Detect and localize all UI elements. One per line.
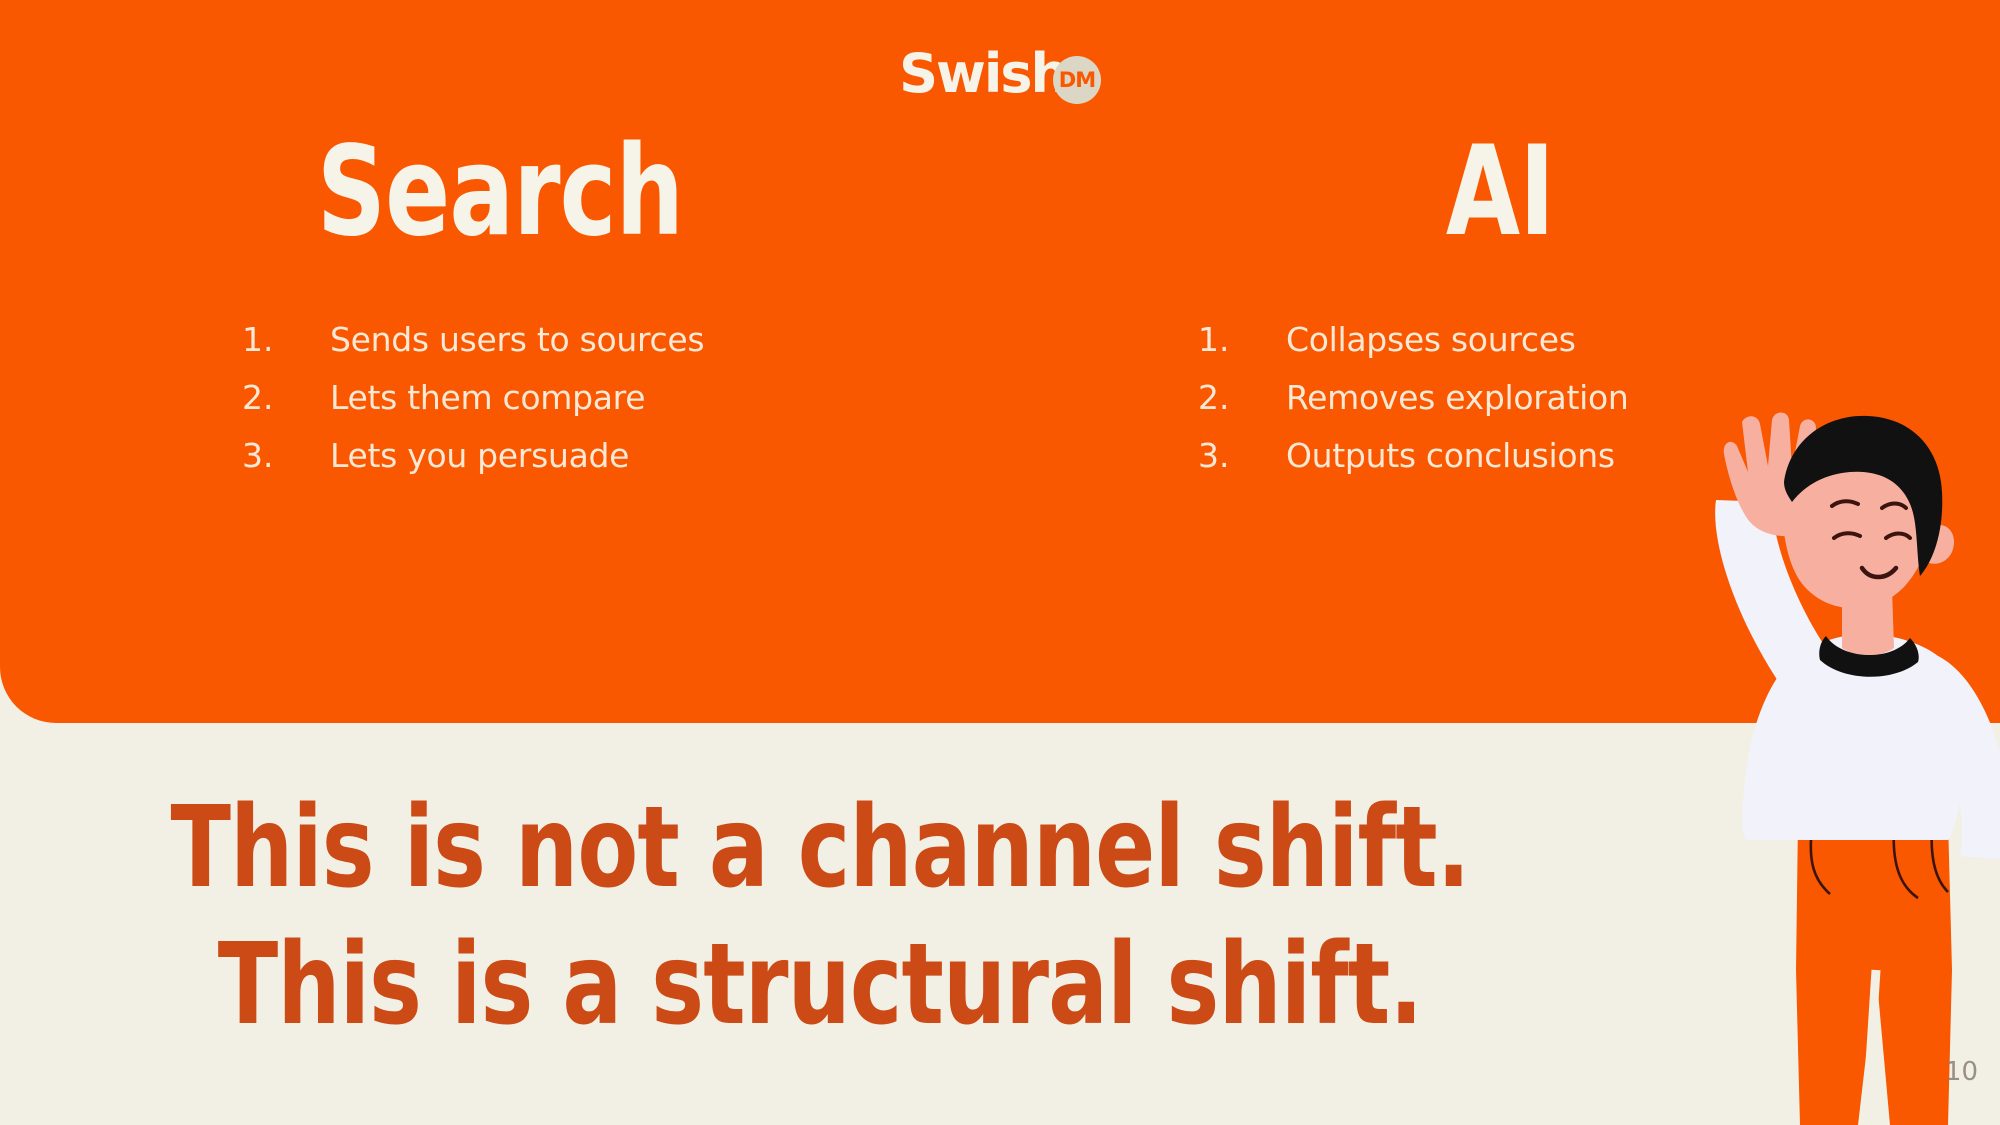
list-item-number: 1. [1198,320,1286,359]
list-item-label: Lets you persuade [330,436,629,475]
list-item-label: Sends users to sources [330,320,704,359]
list-item-label: Removes exploration [1286,378,1628,417]
list-item: 1. Sends users to sources [242,320,1000,378]
waving-person-svg [1680,410,2000,1125]
slide-canvas: SwishDM Search 1. Sends users to sources… [0,0,2000,1125]
waving-person-illustration [1680,410,2000,1125]
pants-group [1796,820,1952,1125]
list-item-number: 1. [242,320,330,359]
list-item-label: Lets them compare [330,378,645,417]
column-search-title: Search [70,130,930,254]
column-search: Search 1. Sends users to sources 2. Lets… [0,130,1000,550]
list-item-number: 3. [242,436,330,475]
list-item-number: 2. [1198,378,1286,417]
list-item-number: 2. [242,378,330,417]
logo-lockup: SwishDM [899,47,1101,101]
logo-badge-label: DM [1053,56,1101,104]
list-item-label: Collapses sources [1286,320,1576,359]
logo-badge-icon: DM [1053,56,1101,104]
closing-headline: This is not a channel shift. This is a s… [0,780,1640,1053]
list-item-number: 3. [1198,436,1286,475]
column-ai-title: AI [1070,130,1930,254]
headline-line-1: This is not a channel shift. [98,780,1541,917]
list-item: 1. Collapses sources [1198,320,2000,378]
brand-logo: SwishDM [0,47,2000,107]
head-group [1782,416,1954,608]
logo-wordmark: Swish [899,42,1067,105]
headline-line-2: This is a structural shift. [98,917,1541,1054]
column-search-list: 1. Sends users to sources 2. Lets them c… [0,320,1000,494]
page-number: 10 [1945,1057,1978,1087]
list-item: 2. Lets them compare [242,378,1000,436]
list-item-label: Outputs conclusions [1286,436,1615,475]
list-item: 3. Lets you persuade [242,436,1000,494]
